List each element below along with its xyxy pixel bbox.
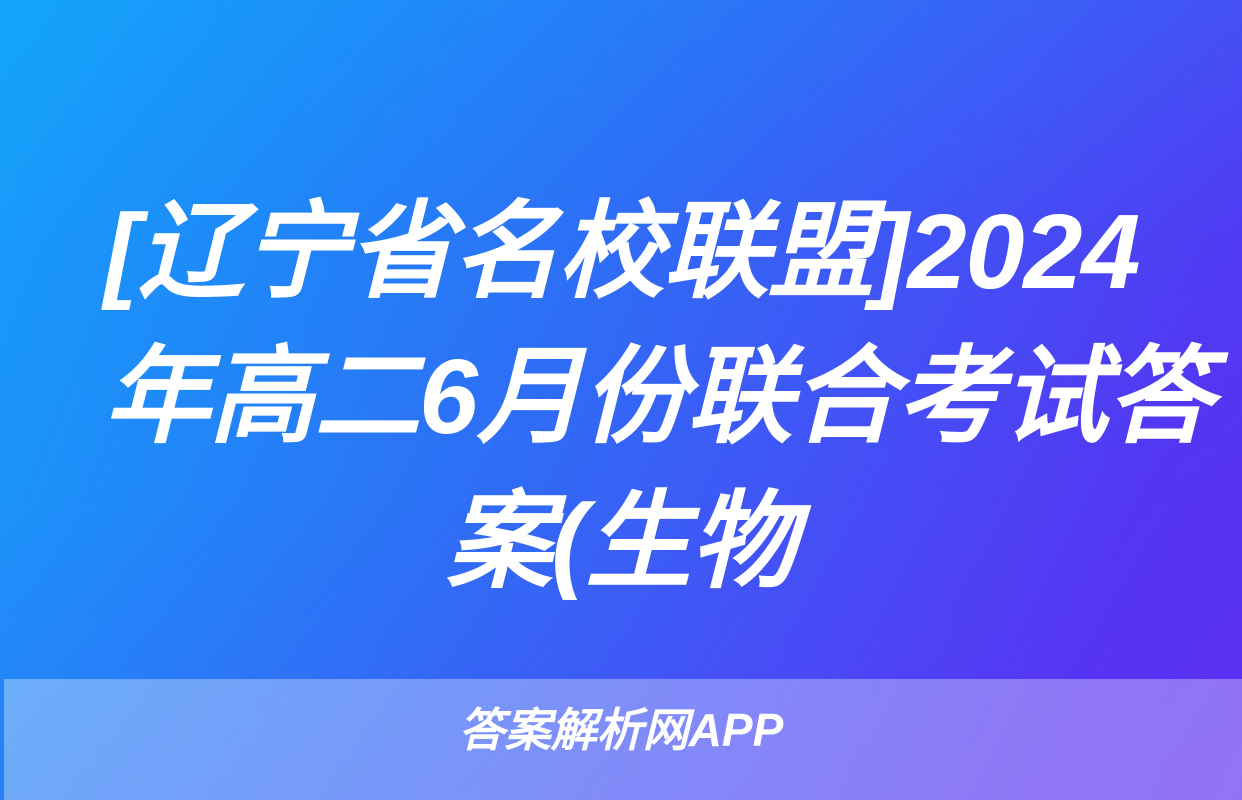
page-title-line-1: [辽宁省名校联盟]2024 <box>104 180 1138 325</box>
page-title-line-3: 案(生物 <box>104 470 1138 615</box>
exam-answer-cover-card: [辽宁省名校联盟]2024 年高二6月份联合考试答 案(生物 答案解析网APP <box>0 0 1242 800</box>
watermark-brand-label: 答案解析网APP <box>0 702 1242 758</box>
page-title: [辽宁省名校联盟]2024 年高二6月份联合考试答 案(生物 <box>0 180 1242 615</box>
page-title-line-2: 年高二6月份联合考试答 <box>104 325 1138 470</box>
